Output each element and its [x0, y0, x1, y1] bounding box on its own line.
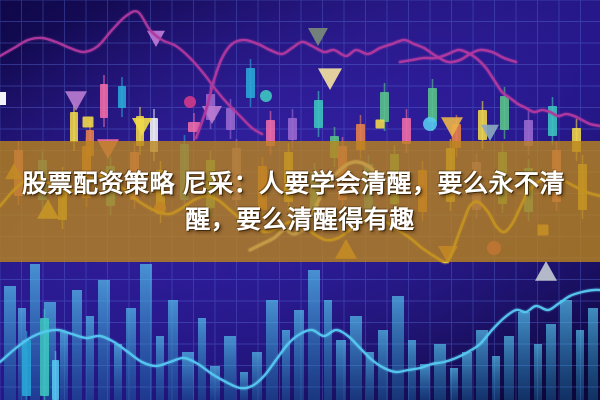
- headline-gold-band: [0, 141, 600, 262]
- stock-chart-banner-image: 股票配资策略 尼采：人要学会清醒，要么永不清 醒，要么清醒得有趣: [0, 0, 600, 400]
- left-edge-tick: [0, 92, 6, 105]
